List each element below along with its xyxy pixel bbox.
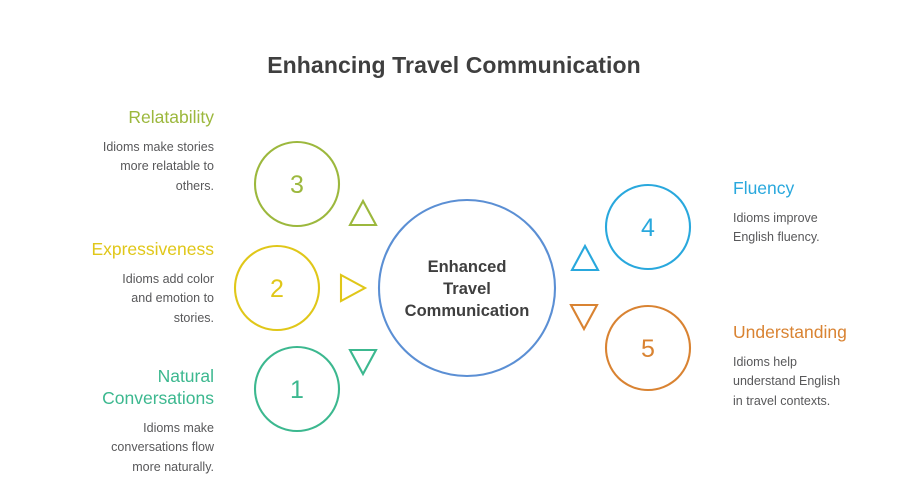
center-hub-line-3: Communication bbox=[405, 302, 530, 320]
node-number-4: 4 bbox=[641, 214, 655, 242]
node-number-5: 5 bbox=[641, 335, 655, 363]
info-block-relatability: Relatability Idioms make stories more re… bbox=[38, 107, 214, 196]
block-heading-understanding: Understanding bbox=[733, 322, 908, 344]
center-hub-line-2: Travel bbox=[443, 280, 491, 298]
block-heading-relatability: Relatability bbox=[38, 107, 214, 129]
node-number-3: 3 bbox=[290, 171, 304, 199]
triangle-down-icon-5 bbox=[571, 305, 597, 329]
block-body-expressiveness: Idioms add color and emotion to stories. bbox=[38, 270, 214, 328]
block-body-natural-conversations: Idioms make conversations flow more natu… bbox=[38, 419, 214, 477]
center-hub-layer: EnhancedTravelCommunication bbox=[379, 200, 555, 376]
block-heading-natural-conversations: Natural Conversations bbox=[38, 366, 214, 410]
block-heading-fluency: Fluency bbox=[733, 178, 908, 200]
block-body-fluency: Idioms improve English fluency. bbox=[733, 209, 908, 248]
node-3[interactable]: 3 bbox=[255, 142, 339, 226]
triangle-up-icon-4 bbox=[572, 246, 598, 270]
block-heading-expressiveness: Expressiveness bbox=[38, 239, 214, 261]
node-number-1: 1 bbox=[290, 376, 304, 404]
triangle-up-icon-3 bbox=[350, 201, 376, 225]
block-body-relatability: Idioms make stories more relatable to ot… bbox=[38, 138, 214, 196]
info-block-natural-conversations: Natural Conversations Idioms make conver… bbox=[38, 366, 214, 477]
node-4[interactable]: 4 bbox=[606, 185, 690, 269]
info-block-understanding: Understanding Idioms help understand Eng… bbox=[733, 322, 908, 411]
node-5[interactable]: 5 bbox=[606, 306, 690, 390]
block-body-understanding: Idioms help understand English in travel… bbox=[733, 353, 908, 411]
center-hub-line-1: Enhanced bbox=[428, 258, 507, 276]
info-block-fluency: Fluency Idioms improve English fluency. bbox=[733, 178, 908, 248]
node-2[interactable]: 2 bbox=[235, 246, 319, 330]
info-block-expressiveness: Expressiveness Idioms add color and emot… bbox=[38, 239, 214, 328]
triangle-right-icon-2 bbox=[341, 275, 365, 301]
node-number-2: 2 bbox=[270, 275, 284, 303]
node-1[interactable]: 1 bbox=[255, 347, 339, 431]
center-hub-label: EnhancedTravelCommunication bbox=[405, 258, 530, 320]
triangle-down-icon-1 bbox=[350, 350, 376, 374]
